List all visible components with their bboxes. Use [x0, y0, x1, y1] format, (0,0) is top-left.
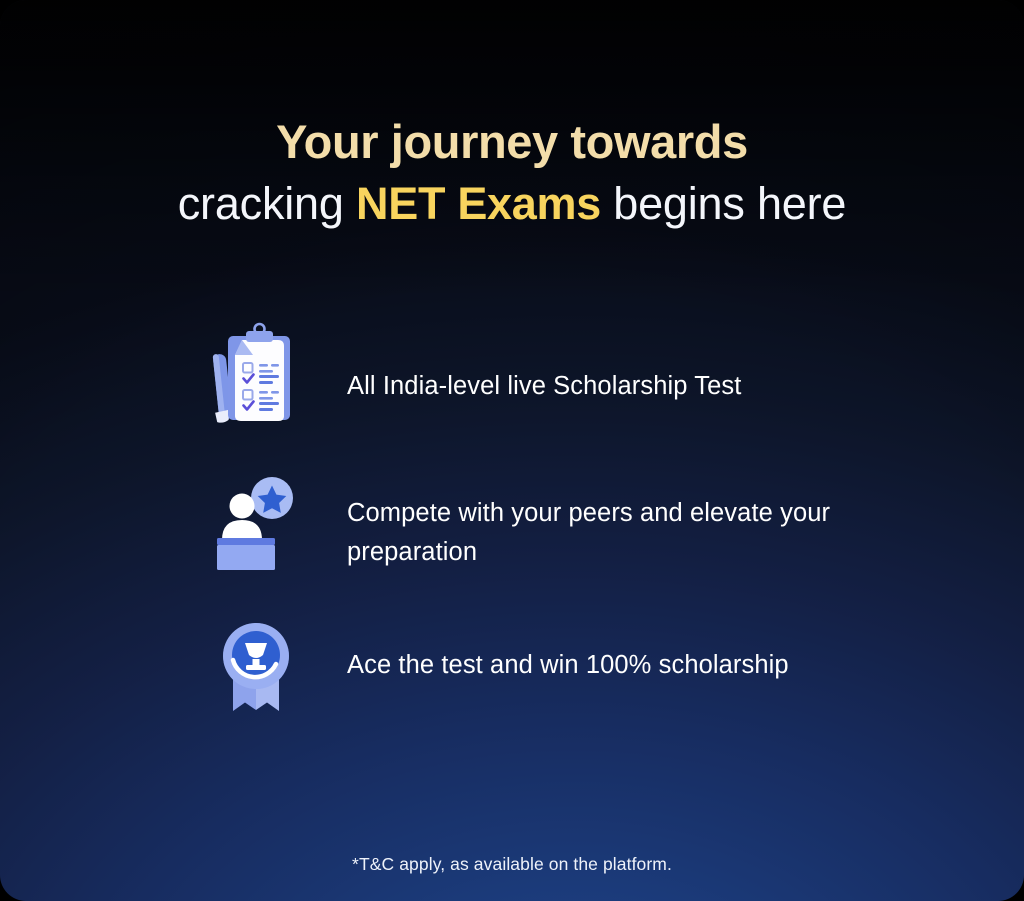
feature-item-scholarship-test: All India-level live Scholarship Test [206, 322, 906, 426]
clipboard-checklist-icon [206, 322, 306, 426]
headline-line-1: Your journey towards [0, 118, 1024, 165]
award-ribbon-trophy-icon [206, 610, 306, 714]
headline-prefix: cracking [178, 178, 356, 229]
headline: Your journey towards cracking NET Exams … [0, 118, 1024, 226]
feature-label: Ace the test and win 100% scholarship [306, 610, 906, 685]
podium-speaker-star-icon [206, 468, 306, 572]
feature-label: All India-level live Scholarship Test [306, 322, 906, 406]
feature-item-win-scholarship: Ace the test and win 100% scholarship [206, 610, 906, 714]
feature-label: Compete with your peers and elevate your… [306, 468, 906, 572]
feature-item-compete-peers: Compete with your peers and elevate your… [206, 468, 906, 572]
promo-card: Your journey towards cracking NET Exams … [0, 0, 1024, 901]
headline-suffix: begins here [601, 178, 846, 229]
headline-accent-net-exams: NET Exams [356, 178, 601, 229]
feature-list: All India-level live Scholarship Test [206, 322, 906, 714]
terms-and-conditions-note: *T&C apply, as available on the platform… [0, 854, 1024, 875]
headline-line-2: cracking NET Exams begins here [0, 181, 1024, 226]
